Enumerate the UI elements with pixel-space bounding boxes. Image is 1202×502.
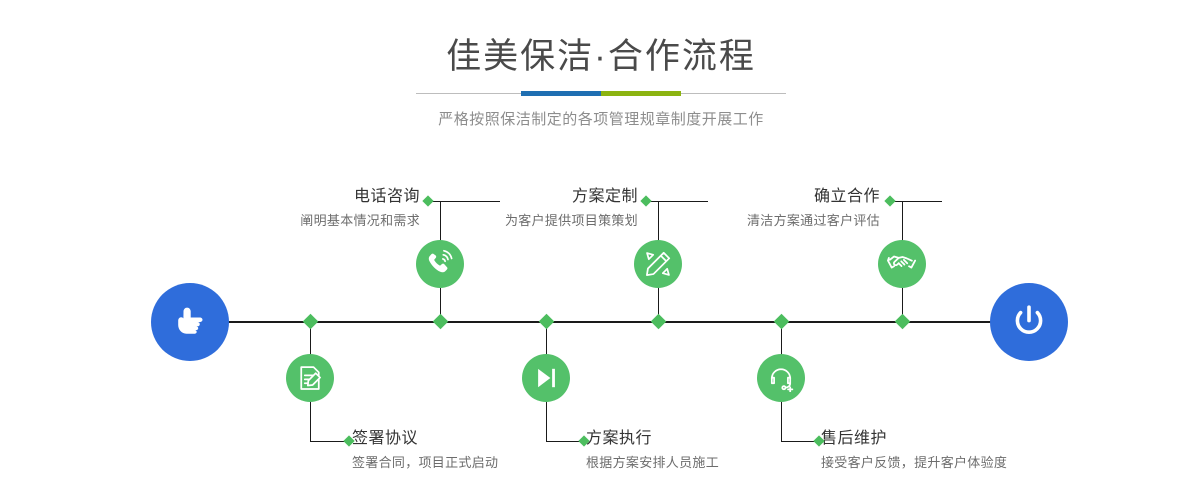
timeline-finish-node[interactable] <box>990 283 1068 361</box>
step-icon-plan-customize[interactable] <box>634 240 682 288</box>
step-title-after-sales: 售后维护 <box>821 428 1007 450</box>
step-title-establish-cooperation: 确立合作 <box>700 186 880 208</box>
step-title-phone-consult: 电话咨询 <box>240 186 420 208</box>
power-button-icon <box>1007 300 1051 344</box>
step-desc-phone-consult: 阐明基本情况和需求 <box>240 211 420 231</box>
flow-diagram-page: 佳美保洁·合作流程 严格按照保洁制定的各项管理规章制度开展工作 <box>0 0 1202 502</box>
timeline: 电话咨询 阐明基本情况和需求 签署协议 签署合同，项目正式启动 <box>0 0 1202 502</box>
step-icon-plan-execute[interactable] <box>522 354 570 402</box>
axis-marker-step-2 <box>303 314 319 330</box>
axis-marker-step-5 <box>895 314 911 330</box>
step-desc-after-sales: 接受客户反馈，提升客户体验度 <box>821 453 1007 473</box>
pointing-hand-icon <box>169 301 211 343</box>
label-marker-step-3 <box>640 195 651 206</box>
step-icon-after-sales[interactable] <box>757 354 805 402</box>
pencil-ruler-icon <box>644 250 672 278</box>
step-desc-sign-agreement: 签署合同，项目正式启动 <box>352 453 498 473</box>
step-label-sign-agreement: 签署协议 签署合同，项目正式启动 <box>352 428 498 473</box>
connector-h-step-1 <box>432 201 500 202</box>
step-desc-plan-customize: 为客户提供项目策策划 <box>455 211 638 231</box>
axis-marker-step-4 <box>539 314 555 330</box>
step-title-plan-execute: 方案执行 <box>586 428 719 450</box>
step-desc-establish-cooperation: 清洁方案通过客户评估 <box>700 211 880 231</box>
document-edit-icon <box>296 364 324 392</box>
step-label-phone-consult: 电话咨询 阐明基本情况和需求 <box>240 186 420 231</box>
step-label-establish-cooperation: 确立合作 清洁方案通过客户评估 <box>700 186 880 231</box>
play-forward-icon <box>532 364 560 392</box>
handshake-icon <box>887 249 917 279</box>
step-label-after-sales: 售后维护 接受客户反馈，提升客户体验度 <box>821 428 1007 473</box>
headset-support-icon <box>767 364 795 392</box>
label-marker-step-5 <box>884 195 895 206</box>
step-label-plan-customize: 方案定制 为客户提供项目策策划 <box>455 186 638 231</box>
step-desc-plan-execute: 根据方案安排人员施工 <box>586 453 719 473</box>
step-title-plan-customize: 方案定制 <box>455 186 638 208</box>
step-label-plan-execute: 方案执行 根据方案安排人员施工 <box>586 428 719 473</box>
axis-marker-step-6 <box>774 314 790 330</box>
label-marker-step-1 <box>422 195 433 206</box>
axis-marker-step-1 <box>433 314 449 330</box>
step-icon-phone-consult[interactable] <box>416 240 464 288</box>
step-icon-sign-agreement[interactable] <box>286 354 334 402</box>
axis-marker-step-3 <box>651 314 667 330</box>
step-icon-establish-cooperation[interactable] <box>878 240 926 288</box>
phone-call-icon <box>425 249 455 279</box>
step-title-sign-agreement: 签署协议 <box>352 428 498 450</box>
timeline-start-node[interactable] <box>151 283 229 361</box>
